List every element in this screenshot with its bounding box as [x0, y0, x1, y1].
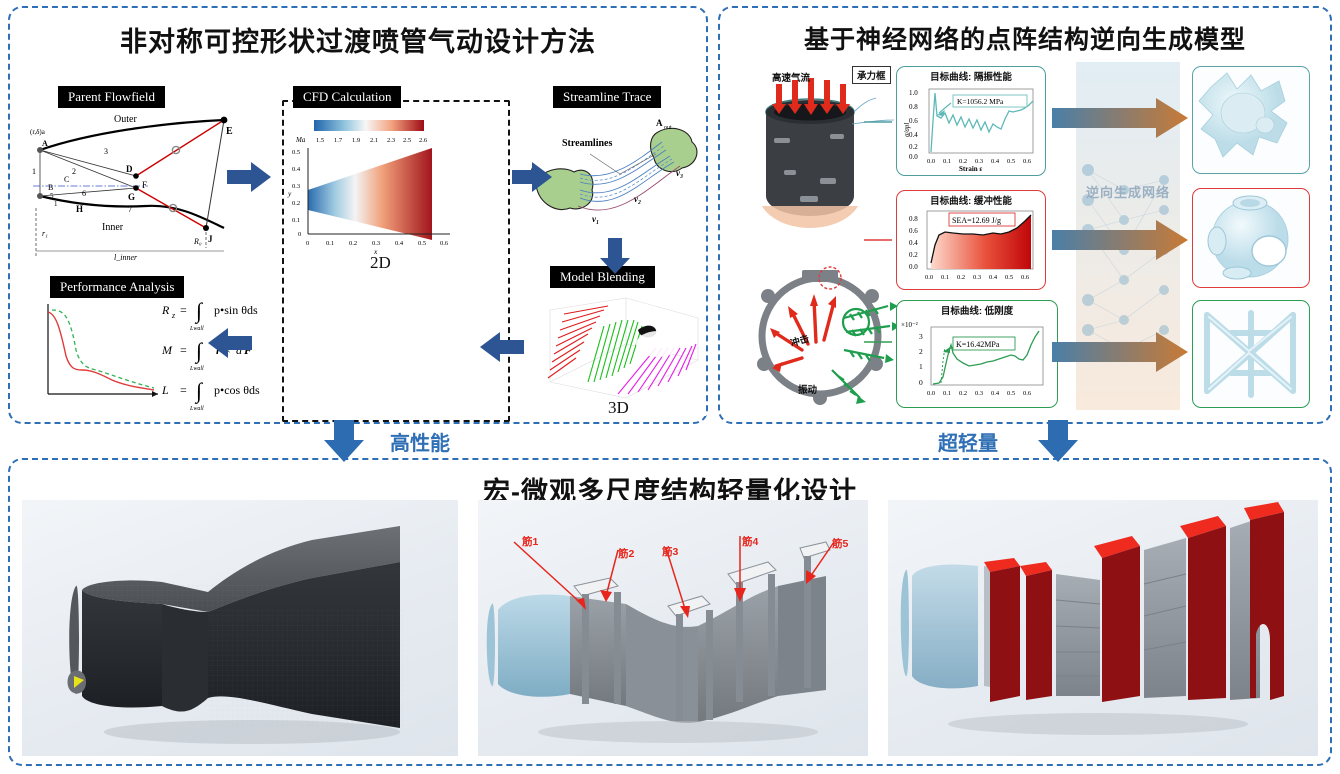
svg-text:Strain ε: Strain ε — [959, 165, 982, 173]
svg-text:0.4: 0.4 — [395, 240, 404, 247]
svg-text:0.2: 0.2 — [957, 274, 965, 281]
svg-text:0.2: 0.2 — [959, 158, 967, 165]
svg-text:0: 0 — [919, 378, 923, 387]
svg-text:0.5: 0.5 — [1007, 158, 1015, 165]
arrow-gradient-mid — [1052, 218, 1192, 262]
streamlines-label: Streamlines — [562, 138, 612, 149]
svg-text:0.1: 0.1 — [292, 217, 300, 224]
label-cfd-calculation: CFD Calculation — [293, 86, 401, 108]
svg-text:0.4: 0.4 — [989, 274, 998, 281]
svg-text:p•sin θds: p•sin θds — [214, 303, 258, 317]
label-high-speed-airflow: 高速气流 — [772, 70, 810, 84]
left-panel-title: 非对称可控形状过渡喷管气动设计方法 — [10, 20, 706, 59]
svg-text:0.2: 0.2 — [292, 200, 300, 207]
svg-text:0.1: 0.1 — [943, 390, 951, 397]
svg-text:1.9: 1.9 — [352, 137, 360, 144]
svg-text:0.2: 0.2 — [909, 143, 918, 151]
chart-vibration-isolation: 目标曲线: 隔振性能 1.0 0.8 0.6 0.4 0.2 0.0 σ/σpl… — [896, 66, 1046, 176]
svg-text:y: y — [287, 189, 292, 198]
svg-text:0.0: 0.0 — [925, 274, 933, 281]
streamline-trace-diagram: Streamlines A in A out v₁ v₂ v₃ — [530, 110, 710, 240]
svg-text:7: 7 — [128, 205, 132, 214]
svg-text:0.3: 0.3 — [975, 158, 983, 165]
svg-text:=: = — [180, 343, 187, 357]
red-rib-3 — [1094, 536, 1140, 702]
lattice-cell-tpms — [1192, 66, 1310, 174]
svg-text:C: C — [64, 175, 69, 184]
svg-text:0.2: 0.2 — [959, 390, 967, 397]
arrow-cfd-to-streamline — [510, 160, 555, 194]
red-rib-2 — [1020, 562, 1052, 700]
label-performance-analysis: Performance Analysis — [50, 276, 184, 298]
svg-text:0.8: 0.8 — [909, 103, 918, 111]
svg-text:Ma: Ma — [295, 136, 306, 144]
svg-text:1: 1 — [919, 362, 923, 371]
svg-text:0.8: 0.8 — [909, 215, 918, 223]
model-nozzle-exploded-ribs — [888, 500, 1318, 756]
svg-text:σ/σpl: σ/σpl — [903, 123, 911, 137]
arrow-down-high-performance — [322, 418, 366, 464]
svg-text:0.4: 0.4 — [909, 239, 918, 247]
svg-text:0.3: 0.3 — [292, 183, 300, 190]
nozzle-solid-cad — [22, 500, 458, 756]
curve2-annotation: SEA=12.69 J/g — [952, 216, 1001, 225]
label-vibration: 振动 — [798, 382, 817, 396]
performance-curve-plot — [34, 298, 164, 408]
blend-3d-caption: 3D — [608, 398, 629, 418]
svg-text:0.0: 0.0 — [927, 158, 935, 165]
svg-text:0.3: 0.3 — [973, 274, 981, 281]
svg-text:∫: ∫ — [194, 378, 204, 404]
label-parent-flowfield: Parent Flowfield — [58, 86, 165, 108]
svg-text:3: 3 — [919, 332, 923, 341]
label-streamline-trace: Streamline Trace — [553, 86, 661, 108]
svg-text:3: 3 — [104, 147, 108, 156]
rib-label-5: 筋5 — [832, 536, 848, 551]
svg-text:1.5: 1.5 — [316, 137, 324, 144]
rib-label-2: 筋2 — [618, 546, 634, 561]
svg-text:6: 6 — [82, 189, 86, 198]
flowfield-angle-label: (r,δ)a — [30, 128, 46, 136]
chart-cushioning: 目标曲线: 缓冲性能 0.8 0.6 0.4 0.2 0.0 0.0 0.1 0… — [896, 190, 1046, 290]
arrow-streamline-to-blending — [598, 236, 632, 276]
svg-text:A: A — [42, 139, 48, 148]
rib-label-3: 筋3 — [662, 544, 678, 559]
svg-text:0.4: 0.4 — [991, 390, 1000, 397]
svg-text:5: 5 — [50, 192, 54, 200]
svg-text:H: H — [76, 204, 83, 214]
svg-text:=: = — [180, 383, 187, 397]
svg-text:1.0: 1.0 — [909, 89, 918, 97]
label-high-performance: 高性能 — [390, 427, 450, 456]
svg-text:A: A — [656, 118, 663, 128]
svg-text:2: 2 — [919, 347, 923, 356]
arrow-gradient-top — [1052, 96, 1192, 140]
arrow-parent-to-cfd — [225, 160, 275, 194]
tpms-lattice-icon — [1193, 67, 1307, 171]
label-inverse-generation-network: 逆向生成网络 — [1076, 182, 1180, 201]
svg-text:=: = — [180, 303, 187, 317]
svg-text:0: 0 — [306, 240, 309, 247]
svg-text:0.0: 0.0 — [927, 390, 935, 397]
svg-text:0.6: 0.6 — [1023, 390, 1032, 397]
svg-text:0.1: 0.1 — [943, 158, 951, 165]
svg-text:0.3: 0.3 — [975, 390, 983, 397]
svg-text:0.2: 0.2 — [349, 240, 357, 247]
svg-text:0.0: 0.0 — [909, 153, 918, 161]
svg-text:0.4: 0.4 — [991, 158, 1000, 165]
svg-text:0.1: 0.1 — [941, 274, 949, 281]
svg-text:D: D — [126, 164, 133, 174]
red-rib-5 — [1244, 502, 1284, 700]
svg-text:G: G — [128, 192, 135, 202]
svg-text:J: J — [208, 234, 213, 244]
curve3-scale-label: ×10⁻² — [901, 321, 918, 329]
svg-text:2: 2 — [72, 167, 76, 176]
svg-text:2.1: 2.1 — [370, 137, 378, 144]
arrow-gradient-bottom — [1052, 330, 1192, 374]
svg-text:0.6: 0.6 — [1021, 274, 1030, 281]
arrow-3d-to-performance — [206, 326, 254, 360]
svg-text:R: R — [161, 303, 170, 317]
svg-text:0.5: 0.5 — [292, 149, 300, 156]
curve3-annotation: K=16.42MPa — [956, 340, 1000, 349]
right-panel-title: 基于神经网络的点阵结构逆向生成模型 — [720, 20, 1330, 56]
arrow-down-ultra-lightweight — [1036, 418, 1080, 464]
svg-text:r₁: r₁ — [42, 229, 48, 238]
svg-text:B: B — [48, 183, 53, 192]
svg-text:2.6: 2.6 — [419, 137, 428, 144]
svg-text:v₂: v₂ — [634, 194, 641, 204]
curve1-annotation: K=1056.2 MPa — [957, 97, 1004, 106]
svg-text:Lwall: Lwall — [189, 366, 204, 372]
svg-text:2.5: 2.5 — [403, 137, 411, 144]
curve2-plot: 0.8 0.6 0.4 0.2 0.0 0.0 0.1 0.2 0.3 0.4 … — [897, 207, 1047, 291]
rib-label-1: 筋1 — [522, 534, 538, 549]
lattice-cell-sphere — [1192, 188, 1310, 288]
cfd-2d-caption: 2D — [370, 253, 391, 273]
svg-text:0.4: 0.4 — [292, 166, 301, 173]
svg-text:0: 0 — [298, 231, 301, 238]
svg-text:0.0: 0.0 — [909, 263, 918, 271]
svg-text:0.1: 0.1 — [326, 240, 334, 247]
svg-text:p•cos θds: p•cos θds — [214, 383, 260, 397]
svg-text:1: 1 — [54, 200, 58, 208]
flowfield-inner-label: Inner — [102, 222, 124, 233]
svg-text:0.2: 0.2 — [909, 251, 918, 259]
svg-text:1.7: 1.7 — [334, 137, 343, 144]
curve1-title: 目标曲线: 隔振性能 — [897, 69, 1045, 83]
arrow-blending-to-3d — [478, 330, 526, 364]
rib-label-4: 筋4 — [742, 534, 758, 549]
svg-text:M: M — [161, 343, 173, 357]
flowfield-outer-label: Outer — [114, 114, 137, 125]
label-ultra-lightweight: 超轻量 — [938, 427, 998, 456]
svg-text:v₁: v₁ — [592, 214, 599, 224]
sphere-lattice-icon — [1193, 189, 1307, 285]
lattice-cell-star — [1192, 300, 1310, 408]
svg-text:Lwall: Lwall — [189, 406, 204, 412]
svg-text:∫: ∫ — [194, 298, 204, 324]
svg-text:0.6: 0.6 — [440, 240, 449, 247]
curve2-title: 目标曲线: 缓冲性能 — [897, 193, 1045, 207]
svg-text:F: F — [142, 180, 147, 190]
svg-text:0.6: 0.6 — [909, 227, 918, 235]
svg-text:0.5: 0.5 — [418, 240, 426, 247]
star-strut-lattice-icon — [1193, 301, 1307, 405]
svg-text:0.6: 0.6 — [1023, 158, 1032, 165]
svg-text:1: 1 — [32, 167, 36, 176]
svg-text:Lwall: Lwall — [189, 326, 204, 332]
svg-text:E: E — [226, 126, 233, 137]
nozzle-exploded-cad — [888, 500, 1318, 756]
svg-text:out: out — [664, 125, 672, 131]
svg-text:L: L — [161, 383, 169, 397]
svg-text:0.3: 0.3 — [372, 240, 380, 247]
svg-text:0.5: 0.5 — [1005, 274, 1013, 281]
red-rib-4 — [1180, 516, 1226, 700]
model-nozzle-solid — [22, 500, 458, 756]
svg-text:0.5: 0.5 — [1007, 390, 1015, 397]
cfd-2d-contour-chart: Ma 1.5 1.7 1.9 2.1 2.3 2.5 2.6 0.5 0.4 0… — [290, 112, 500, 262]
svg-text:∫: ∫ — [194, 338, 204, 364]
curve3-plot: ×10⁻² 3 2 1 0 0.0 0.1 0.2 0.3 0.4 0.5 0.… — [897, 317, 1059, 409]
svg-text:l_inner: l_inner — [114, 253, 138, 262]
chart-low-stiffness: 目标曲线: 低刚度 ×10⁻² 3 2 1 0 0.0 0.1 0.2 0.3 … — [896, 300, 1058, 408]
panel-aerodynamic-design: 非对称可控形状过渡喷管气动设计方法 Parent Flowfield CFD C… — [8, 6, 708, 424]
svg-text:v₃: v₃ — [676, 168, 683, 178]
curve3-title: 目标曲线: 低刚度 — [897, 303, 1057, 317]
curve1-plot: 1.0 0.8 0.6 0.4 0.2 0.0 σ/σpl 0.0 0.1 0.… — [897, 83, 1047, 175]
svg-text:z: z — [171, 311, 176, 320]
svg-text:R₀: R₀ — [193, 237, 202, 246]
svg-text:2.3: 2.3 — [387, 137, 395, 144]
